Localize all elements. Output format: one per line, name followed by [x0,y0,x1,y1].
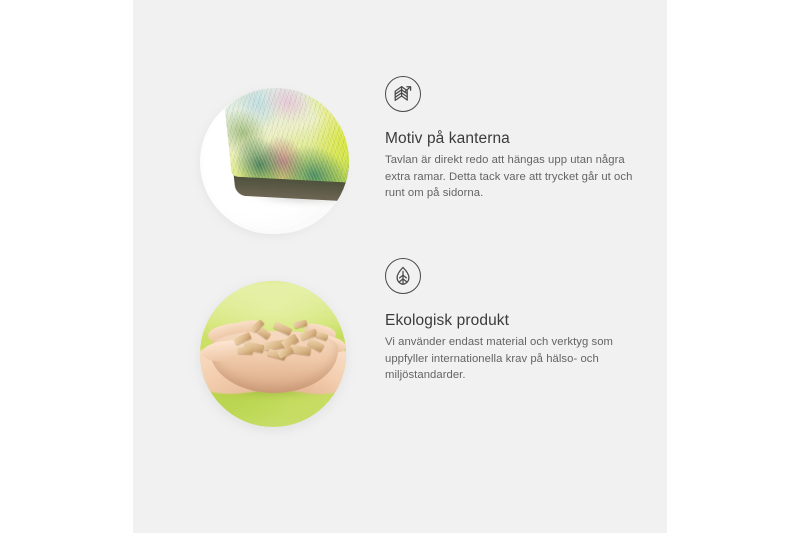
content-panel: Motiv på kanterna Tavlan är direkt redo … [133,0,667,533]
canvas-wrapped-edges-icon [385,76,421,112]
feature-2-body: Vi använder endast material och verktyg … [385,334,651,384]
product-feature-banner: Motiv på kanterna Tavlan är direkt redo … [0,0,800,533]
feature-1-body: Tavlan är direkt redo att hängas upp uta… [385,152,651,202]
canvas-corner-photo [203,88,349,234]
feature-1-copy: Motiv på kanterna Tavlan är direkt redo … [385,76,667,202]
feature-1-thumb-wrap [200,76,352,248]
feature-2-copy: Ekologisk produkt Vi använder endast mat… [385,258,667,384]
leaf-icon [385,258,421,294]
feature-1-title: Motiv på kanterna [385,129,667,148]
feature-2-thumb-wrap [200,258,352,430]
hands-holding-wood-chips-photo [200,281,346,427]
feature-2-title: Ekologisk produkt [385,311,667,330]
